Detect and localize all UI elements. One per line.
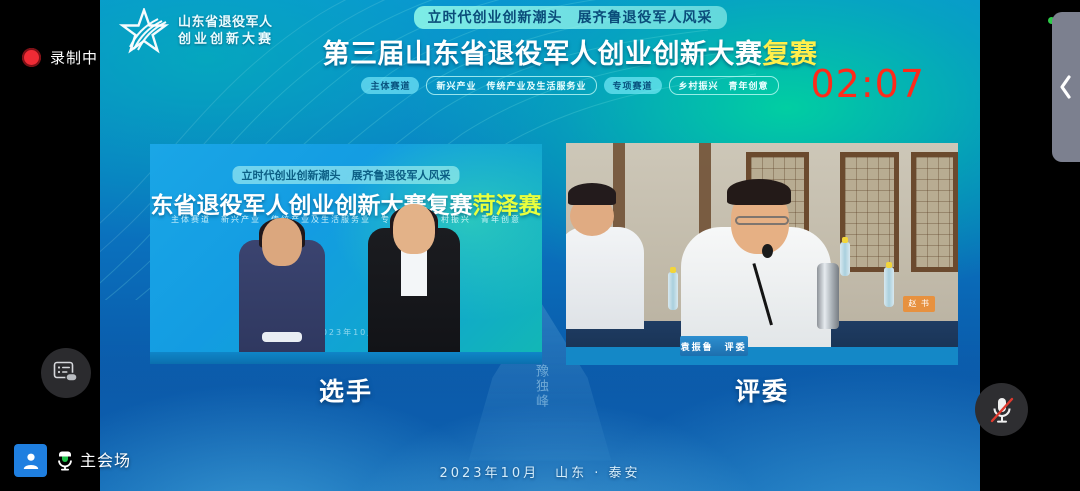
event-headline: 立时代创业创新潮头 展齐鲁退役军人风采 第三届山东省退役军人创业创新大赛复赛 主…: [310, 6, 830, 95]
mute-toggle-button[interactable]: [975, 383, 1028, 436]
event-kicker: 立时代创业创新潮头 展齐鲁退役军人风采: [414, 6, 727, 29]
logo-text: 山东省退役军人 创业创新大赛: [178, 14, 274, 48]
judge-nameplate-secondary: 赵 书: [903, 296, 935, 312]
recording-label: 录制中: [50, 47, 98, 68]
tile-caption-contestants: 选手: [150, 372, 542, 408]
judge-hair: [727, 179, 791, 205]
event-title-highlight: 复赛: [763, 39, 818, 70]
recording-indicator: 录制中: [22, 47, 98, 68]
chevron-left-icon: [1058, 74, 1074, 100]
stage-floor: [150, 352, 542, 364]
record-dot-icon: [22, 48, 41, 67]
judge-side-participant: [566, 227, 644, 329]
contestant-person-left: [236, 202, 328, 352]
room-label: 主会场: [80, 447, 131, 471]
meeting-window: 豫独峰 山东省退役军人 创业创新大赛 立时代创业创新潮头 展齐鲁退役军人风采: [0, 0, 1080, 491]
chat-button[interactable]: [41, 348, 91, 398]
judge-glasses-icon: [735, 216, 789, 225]
backdrop-kicker: 立时代创业创新潮头 展齐鲁退役军人风采: [233, 166, 460, 184]
judge-side-participant-hair: [568, 183, 616, 205]
logo-line-1: 山东省退役军人: [178, 14, 274, 31]
event-title: 第三届山东省退役军人创业创新大赛复赛: [310, 32, 830, 71]
event-title-main: 第三届山东省退役军人创业创新大赛: [323, 39, 763, 70]
event-tag: 乡村振兴 青年创意: [669, 76, 779, 95]
judge-nameplate: 袁振鲁 评委: [680, 336, 748, 356]
shared-screen-stage: 豫独峰 山东省退役军人 创业创新大赛 立时代创业创新潮头 展齐鲁退役军人风采: [100, 0, 980, 491]
contestant-person-right: [364, 190, 464, 352]
event-tag: 新兴产业 传统产业及生活服务业: [426, 76, 596, 95]
event-tag-row: 主体赛道 新兴产业 传统产业及生活服务业 专项赛道 乡村振兴 青年创意: [310, 76, 830, 95]
event-tag: 专项赛道: [604, 77, 662, 94]
countdown-timer: 02:07: [810, 62, 925, 106]
user-avatar-icon: [21, 451, 41, 471]
logo-line-2: 创业创新大赛: [178, 31, 274, 48]
star-emblem-icon: [118, 8, 170, 54]
event-logo: 山东省退役军人 创业创新大赛: [118, 8, 274, 54]
thermos-bottle: [817, 263, 839, 329]
judge-room-scene: 袁振鲁 评委 赵 书: [566, 143, 958, 365]
chat-bubble-icon: [53, 361, 79, 385]
backdrop-subtitle: 主体赛道 新兴产业 传统产业及生活服务业 专项赛道 乡村振兴 青年创意: [171, 214, 521, 225]
tile-caption-judge: 评委: [566, 372, 958, 408]
video-tile-judge[interactable]: 袁振鲁 评委 赵 书: [566, 143, 958, 365]
microphone-icon[interactable]: [55, 450, 75, 472]
water-bottle: [884, 267, 894, 307]
event-tag: 主体赛道: [361, 77, 419, 94]
contestant-stage-backdrop: 立时代创业创新潮头 展齐鲁退役军人风采 山东省退役军人创业创新大赛复赛菏泽赛区 …: [150, 144, 542, 364]
collapse-panel-button[interactable]: [1052, 12, 1080, 162]
water-bottle: [668, 272, 678, 310]
bottom-toolbar: 主会场: [0, 439, 1080, 491]
microphone-muted-icon: [987, 394, 1017, 426]
water-bottle: [840, 242, 850, 276]
participants-button[interactable]: [14, 444, 47, 477]
video-tile-contestants[interactable]: 立时代创业创新潮头 展齐鲁退役军人风采 山东省退役军人创业创新大赛复赛菏泽赛区 …: [150, 144, 542, 364]
